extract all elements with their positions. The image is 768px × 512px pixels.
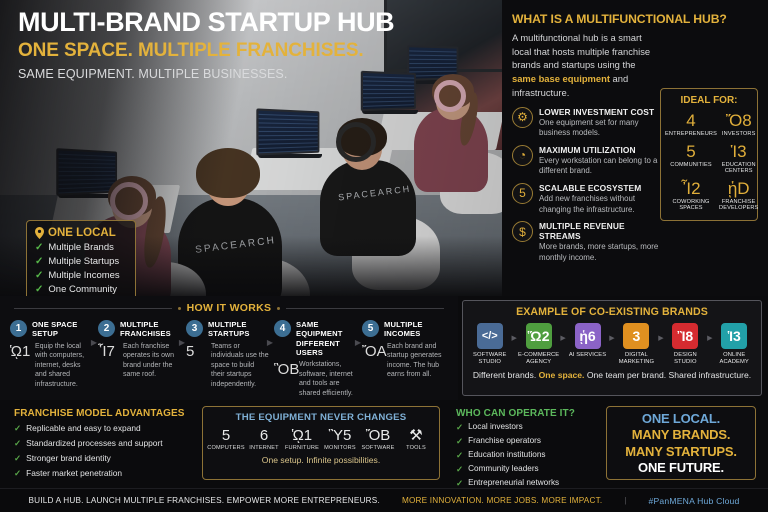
ideal-for-label: FRANCHISE DEVELOPERS [719,199,758,212]
step-arrow-icon: ▶ [267,338,273,347]
footer-separator: | [624,496,626,505]
step-header: 4SAME EQUIPMENT DIFFERENT USERS [274,320,357,357]
furniture-icon: ᾩ1 [283,427,321,444]
benefit-text: MAXIMUM UTILIZATIONEvery workstation can… [539,145,664,177]
growth-chart-icon: Ὄ8 [719,111,758,130]
benefit-title: SCALABLE ECOSYSTEM [539,183,664,193]
who-label: Community leaders [468,464,539,475]
people-group-icon: ὆5 [512,183,533,204]
price-tag-icon: Ἷ7 [98,342,118,380]
handshake-icon: ᾑD [719,179,758,198]
benefit-glyph: ⚙ [517,111,528,123]
ideal-for-label: COWORKING SPACES [665,199,717,212]
ideal-for-item: Ἱ3EDUCATION CENTERS [719,142,758,175]
step-5: 5MULTIPLE INCOMESὌAEach brand and startu… [362,320,450,398]
divider-line [286,308,444,309]
who-item: ✓Education institutions [456,450,606,461]
equipment-item: ⚒TOOLS [397,427,435,451]
advantage-item: ✓Stronger brand identity [14,453,196,464]
step-3: 3MULTIPLE STARTUPS὆5Teams or individuals… [186,320,274,398]
document-gear-icon: ὌB [359,427,397,444]
ideal-for-label: ENTREPRENEURS [665,131,717,138]
brand-item: </>SOFTWARE STUDIO [468,323,512,366]
advantage-label: Standardized processes and support [26,438,162,449]
ideal-for-item: Ἶ2COWORKING SPACES [665,179,717,212]
community-icon: ὆5 [665,142,717,161]
step-description: Equip the local with computers, internet… [35,342,93,390]
who-label: Franchise operators [468,436,541,447]
wifi-icon: ὏6 [245,427,283,444]
office-chair-icon: ᾩ1 [10,342,30,390]
brand-glyph: Ἱ3 [728,329,741,343]
page-footer: BUILD A HUB. LAUNCH MULTIPLE FRANCHISES.… [0,488,768,512]
one-local-item-label: Multiple Brands [48,242,113,253]
location-pin-icon [35,227,44,239]
brand-glyph: Ἲ8 [677,329,693,343]
step-header: 5MULTIPLE INCOMES [362,320,445,339]
benefit-title: MAXIMUM UTILIZATION [539,145,664,155]
equipment-footer: One setup. Infinite possibilities. [207,455,435,465]
step-description: Each franchise operates its own brand un… [123,342,181,380]
check-icon: ✓ [456,464,463,475]
step-body: ὋBWorkstations, software, internet and t… [274,360,357,398]
brand-item: Ἱ3ONLINE ACADEMY [712,323,756,366]
step-title: MULTIPLE STARTUPS [208,320,269,339]
step-header: 1ONE SPACE SETUP [10,320,93,339]
hub-definition-paragraph: A multifunctional hub is a smart local t… [512,31,660,100]
how-it-works-section: HOW IT WORKS 1ONE SPACE SETUPᾩ1Equip the… [0,296,458,400]
benefit-glyph: ◔ [519,149,526,161]
one-local-item-label: Multiple Startups [48,256,119,267]
coexisting-brands-card: EXAMPLE OF CO-EXISTING BRANDS </>SOFTWAR… [462,300,762,396]
brands-footer-post: One team per brand. Shared infrastructur… [584,370,751,380]
slogan-line-1: ONE LOCAL. [642,411,720,426]
hub-definition-panel: WHAT IS A MULTIFUNCTIONAL HUB? A multifu… [502,0,768,296]
benefit-desc: More brands, more startups, more monthly… [539,242,664,263]
step-title: MULTIPLE INCOMES [384,320,445,339]
step-number: 2 [98,320,115,337]
brand-item: ᾑ6AI SERVICES [566,323,610,359]
check-icon: ✓ [456,450,463,461]
one-local-item-label: One Community [48,284,117,295]
check-icon: ✓ [35,284,43,295]
advantages-heading: FRANCHISE MODEL ADVANTAGES [14,408,196,419]
equipment-row: ὚5COMPUTERS὏6INTERNETᾩ1FURNITUREὛ5MONITO… [207,427,435,451]
ideal-for-card: IDEAL FOR: ὆4ENTREPRENEURSὌ8INVESTORS὆5C… [660,88,758,221]
page-title: MULTI-BRAND STARTUP HUB [18,8,394,37]
brand-item: Ὥ2E-COMMERCE AGENCY [517,323,561,366]
advantage-item: ✓Faster market penetration [14,468,196,479]
step-description: Each brand and startup generates income.… [387,342,445,380]
paragraph-pre: A multifunctional hub is a smart local t… [512,32,650,70]
page-subtitle: ONE SPACE. MULTIPLE FRANCHISES. [18,40,394,62]
ideal-for-item: ᾑDFRANCHISE DEVELOPERS [719,179,758,212]
gear-icon: ⚙ [512,107,533,128]
hero-titles: MULTI-BRAND STARTUP HUB ONE SPACE. MULTI… [18,8,394,81]
who-heading: WHO CAN OPERATE IT? [456,408,606,419]
franchise-advantages-block: FRANCHISE MODEL ADVANTAGES ✓Replicable a… [14,408,196,479]
ideal-for-label: COMMUNITIES [665,162,717,169]
slogan-card: ONE LOCAL. MANY BRANDS. MANY STARTUPS. O… [606,406,756,480]
how-it-works-header: HOW IT WORKS [0,296,458,314]
footer-hashtag: #PanMENA Hub Cloud [649,496,740,506]
advantage-item: ✓Standardized processes and support [14,438,196,449]
two-people-icon: ὆5 [186,342,206,390]
ideal-for-grid: ὆4ENTREPRENEURSὌ8INVESTORS὆5COMMUNITIESἹ… [665,111,753,212]
benefit-text: SCALABLE ECOSYSTEMAdd new franchises wit… [539,183,664,215]
one-local-card: ONE LOCAL ✓Multiple Brands✓Multiple Star… [26,220,136,296]
equipment-card: THE EQUIPMENT NEVER CHANGES ὚5COMPUTERS὏… [202,406,440,480]
step-title: ONE SPACE SETUP [32,320,93,339]
step-number: 3 [186,320,203,337]
who-item: ✓Community leaders [456,464,606,475]
check-icon: ✓ [456,436,463,447]
how-it-works-heading: HOW IT WORKS [187,302,272,314]
computer-icon: ὚5 [207,427,245,444]
step-description: Workstations, software, internet and too… [299,360,357,398]
equipment-label: INTERNET [245,445,283,451]
equipment-label: MONITORS [321,445,359,451]
brand-glyph: ᾑ6 [579,329,595,343]
benefit-item: ◔MAXIMUM UTILIZATIONEvery workstation ca… [512,145,664,177]
one-local-item: ✓One Community [35,284,127,295]
step-header: 2MULTIPLE FRANCHISES [98,320,181,339]
check-icon: ✓ [14,453,21,464]
who-item: ✓Local investors [456,422,606,433]
who-item: ✓Franchise operators [456,436,606,447]
advantages-list: ✓Replicable and easy to expand✓Standardi… [14,423,196,479]
equipment-label: FURNITURE [283,445,321,451]
benefit-text: MULTIPLE REVENUE STREAMSMore brands, mor… [539,221,664,263]
step-body: ᾩ1Equip the local with computers, intern… [10,342,93,390]
one-local-item-label: Multiple Incomes [48,270,119,281]
monitor-icon: Ὓ5 [321,427,359,444]
check-icon: ✓ [456,422,463,433]
page-tagline: SAME EQUIPMENT. MULTIPLE BUSINESSES. [18,67,394,81]
graduation-cap-icon: Ἱ3 [719,142,758,161]
step-description: Teams or individuals use the space to bu… [211,342,269,390]
dollar-coin-icon: $ [512,221,533,242]
check-icon: ✓ [35,256,43,267]
equipment-label: TOOLS [397,445,435,451]
brand-glyph: ὎3 [633,329,641,343]
brands-row: </>SOFTWARE STUDIO▶Ὥ2E-COMMERCE AGENCY▶ᾑ… [468,323,756,366]
code-brackets-icon: </> [477,323,503,349]
brand-label: ONLINE ACADEMY [712,352,756,366]
step-arrow-icon: ▶ [91,338,97,347]
brand-glyph: </> [482,331,498,342]
step-title: SAME EQUIPMENT DIFFERENT USERS [296,320,357,357]
equipment-heading: THE EQUIPMENT NEVER CHANGES [207,412,435,423]
brand-label: SOFTWARE STUDIO [468,352,512,366]
divider-dot [178,307,181,310]
footer-left-text: BUILD A HUB. LAUNCH MULTIPLE FRANCHISES.… [28,496,379,505]
step-title: MULTIPLE FRANCHISES [120,320,181,339]
ideal-for-item: ὆5COMMUNITIES [665,142,717,175]
equipment-item: ὌBSOFTWARE [359,427,397,451]
who-list: ✓Local investors✓Franchise operators✓Edu… [456,422,606,489]
benefit-title: LOWER INVESTMENT COST [539,107,664,117]
equipment-item: ᾩ1FURNITURE [283,427,321,451]
check-icon: ✓ [14,468,21,479]
step-body: ὆5Teams or individuals use the space to … [186,342,269,390]
step-number: 5 [362,320,379,337]
benefit-item: ⚙LOWER INVESTMENT COSTOne equipment set … [512,107,664,139]
equipment-item: ὏6INTERNET [245,427,283,451]
step-4: 4SAME EQUIPMENT DIFFERENT USERSὋBWorksta… [274,320,362,398]
step-header: 3MULTIPLE STARTUPS [186,320,269,339]
advantage-label: Faster market penetration [26,468,122,479]
benefit-desc: Add new franchises without changing the … [539,194,664,215]
ideal-for-label: EDUCATION CENTERS [719,162,758,175]
brand-label: E-COMMERCE AGENCY [517,352,561,366]
slogan-line-2: MANY BRANDS. [632,427,730,442]
check-icon: ✓ [14,423,21,434]
benefit-desc: One equipment set for many business mode… [539,118,664,139]
one-local-item: ✓Multiple Incomes [35,270,127,281]
check-icon: ✓ [35,242,43,253]
brand-glyph: Ὥ2 [528,329,550,343]
brand-label: DIGITAL MARKETING [615,352,659,366]
hero-photo-section: SPACEARCH SPACEARCH MULTI-BRAND STARTUP … [0,0,502,296]
benefit-glyph: $ [519,226,526,238]
benefit-glyph: ὆5 [519,187,526,199]
tools-icon: ⚒ [397,427,435,444]
office-building-icon: Ἶ2 [665,179,717,198]
equipment-label: SOFTWARE [359,445,397,451]
brand-label: AI SERVICES [566,352,610,359]
paint-palette-icon: Ἲ8 [672,323,698,349]
advantage-item: ✓Replicable and easy to expand [14,423,196,434]
step-2: 2MULTIPLE FRANCHISESἿ7Each franchise ope… [98,320,186,398]
laptop-icon: ὋB [274,360,294,398]
brand-label: DESIGN STUDIO [664,352,708,366]
step-1: 1ONE SPACE SETUPᾩ1Equip the local with c… [10,320,98,398]
graduation-cap-icon: Ἱ3 [721,323,747,349]
who-label: Education institutions [468,450,545,461]
ideal-for-heading: IDEAL FOR: [665,95,753,106]
brands-footer: Different brands. One space. One team pe… [468,370,756,380]
step-arrow-icon: ▶ [179,338,185,347]
brands-heading: EXAMPLE OF CO-EXISTING BRANDS [468,306,756,318]
benefit-title: MULTIPLE REVENUE STREAMS [539,221,664,241]
bottom-section: FRANCHISE MODEL ADVANTAGES ✓Replicable a… [0,400,768,488]
footer-middle-text: MORE INNOVATION. MORE JOBS. MORE IMPACT. [402,496,602,505]
equipment-item: Ὓ5MONITORS [321,427,359,451]
who-label: Local investors [468,422,523,433]
divider-dot [277,307,280,310]
benefit-item: $MULTIPLE REVENUE STREAMSMore brands, mo… [512,221,664,263]
benefit-text: LOWER INVESTMENT COSTOne equipment set f… [539,107,664,139]
benefit-item: ὆5SCALABLE ECOSYSTEMAdd new franchises w… [512,183,664,215]
one-local-header: ONE LOCAL [35,227,127,239]
step-number: 4 [274,320,291,337]
bar-chart-growth-icon: ὌA [362,342,382,380]
ideal-for-item: Ὄ8INVESTORS [719,111,758,138]
divider-line [14,308,172,309]
shopping-cart-icon: Ὥ2 [526,323,552,349]
benefits-list: ⚙LOWER INVESTMENT COSTOne equipment set … [512,107,664,264]
check-icon: ✓ [35,270,43,281]
brands-footer-highlight: One space. [539,370,585,380]
infographic-page: SPACEARCH SPACEARCH MULTI-BRAND STARTUP … [0,0,768,512]
check-icon: ✓ [14,438,21,449]
step-body: ὌAEach brand and startup generates incom… [362,342,445,380]
who-can-operate-block: WHO CAN OPERATE IT? ✓Local investors✓Fra… [456,408,606,489]
hub-definition-title: WHAT IS A MULTIFUNCTIONAL HUB? [512,12,758,26]
slogan-line-3: MANY STARTUPS. [625,444,737,459]
step-body: Ἷ7Each franchise operates its own brand … [98,342,181,380]
advantage-label: Replicable and easy to expand [26,423,141,434]
step-number: 1 [10,320,27,337]
brands-footer-pre: Different brands. [473,370,539,380]
steps-row: 1ONE SPACE SETUPᾩ1Equip the local with c… [0,314,458,398]
benefit-desc: Every workstation can belong to a differ… [539,156,664,177]
brand-item: ὎3DIGITAL MARKETING [615,323,659,366]
person-icon: ὆4 [665,111,717,130]
equipment-label: COMPUTERS [207,445,245,451]
brand-item: Ἲ8DESIGN STUDIO [664,323,708,366]
ideal-for-label: INVESTORS [719,131,758,138]
robot-icon: ᾑ6 [575,323,601,349]
paragraph-highlight: same base equipment [512,73,610,84]
one-local-item: ✓Multiple Startups [35,256,127,267]
advantage-label: Stronger brand identity [26,453,111,464]
step-arrow-icon: ▶ [355,338,361,347]
pie-chart-icon: ◔ [512,145,533,166]
slogan-line-4: ONE FUTURE. [638,460,724,475]
one-local-title: ONE LOCAL [48,227,116,239]
ideal-for-item: ὆4ENTREPRENEURS [665,111,717,138]
one-local-list: ✓Multiple Brands✓Multiple Startups✓Multi… [35,242,127,295]
megaphone-icon: ὎3 [623,323,649,349]
equipment-item: ὚5COMPUTERS [207,427,245,451]
one-local-item: ✓Multiple Brands [35,242,127,253]
